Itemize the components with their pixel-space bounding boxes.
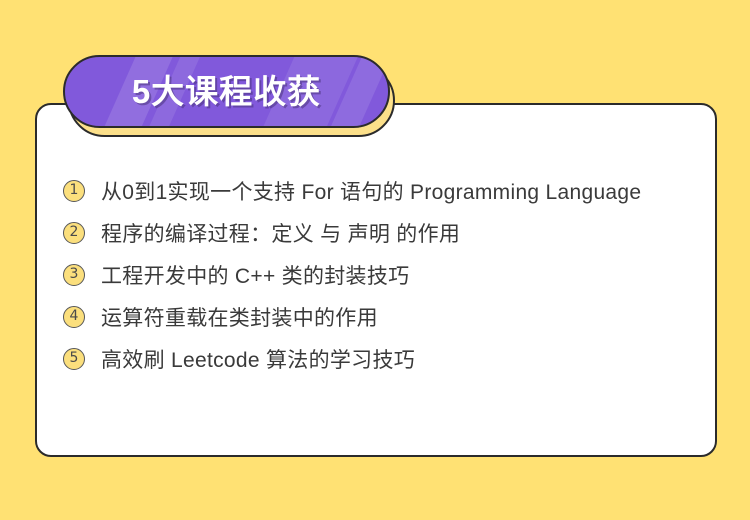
list-item: 2 程序的编译过程：定义 与 声明 的作用 [63, 218, 683, 251]
list-item: 4 运算符重载在类封装中的作用 [63, 302, 683, 335]
list-item-text: 运算符重载在类封装中的作用 [101, 302, 378, 335]
list-item-text: 工程开发中的 C++ 类的封装技巧 [101, 260, 409, 293]
title-badge: 5大课程收获 [63, 55, 395, 137]
poster-canvas: 5大课程收获 1 从0到1实现一个支持 For 语句的 Programming … [0, 0, 750, 520]
list-item-number-badge: 5 [63, 348, 85, 370]
list-item-number-badge: 1 [63, 180, 85, 202]
badge-highlight-streak-icon [314, 55, 390, 128]
benefits-list: 1 从0到1实现一个支持 For 语句的 Programming Languag… [63, 176, 683, 377]
list-item: 5 高效刷 Leetcode 算法的学习技巧 [63, 344, 683, 377]
list-item-text: 高效刷 Leetcode 算法的学习技巧 [101, 344, 415, 377]
list-item-text: 程序的编译过程：定义 与 声明 的作用 [101, 218, 460, 251]
list-item: 1 从0到1实现一个支持 For 语句的 Programming Languag… [63, 176, 683, 209]
list-item-text: 从0到1实现一个支持 For 语句的 Programming Language [101, 176, 641, 209]
badge-title-text: 5大课程收获 [132, 75, 321, 108]
list-item-number-badge: 4 [63, 306, 85, 328]
list-item-number-badge: 3 [63, 264, 85, 286]
title-badge-pill: 5大课程收获 [63, 55, 390, 128]
list-item-number-badge: 2 [63, 222, 85, 244]
list-item: 3 工程开发中的 C++ 类的封装技巧 [63, 260, 683, 293]
